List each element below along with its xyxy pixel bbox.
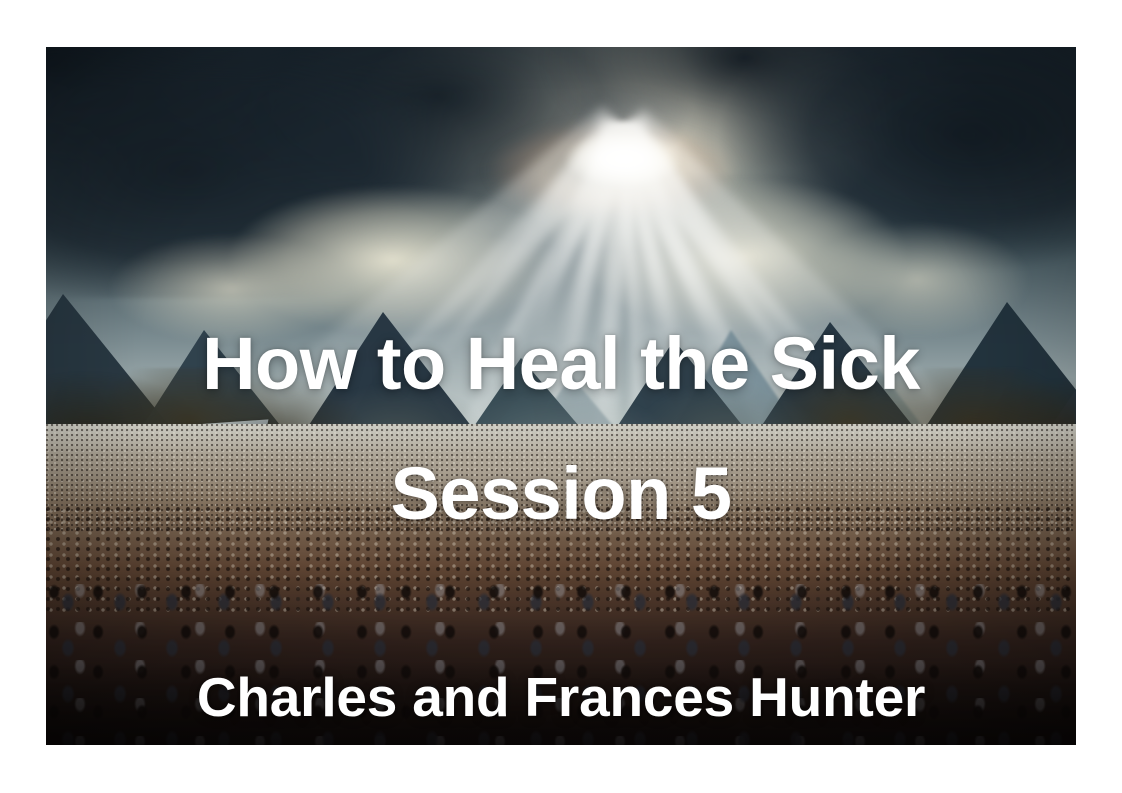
slide-canvas: How to Heal the Sick Session 5 Charles a…	[0, 0, 1122, 793]
slide-author: Charles and Frances Hunter	[46, 670, 1076, 725]
slide-title: How to Heal the Sick Session 5	[46, 327, 1076, 531]
title-line-1: How to Heal the Sick	[46, 327, 1076, 401]
title-line-2: Session 5	[46, 457, 1076, 531]
slide-background-image: How to Heal the Sick Session 5 Charles a…	[46, 47, 1076, 745]
